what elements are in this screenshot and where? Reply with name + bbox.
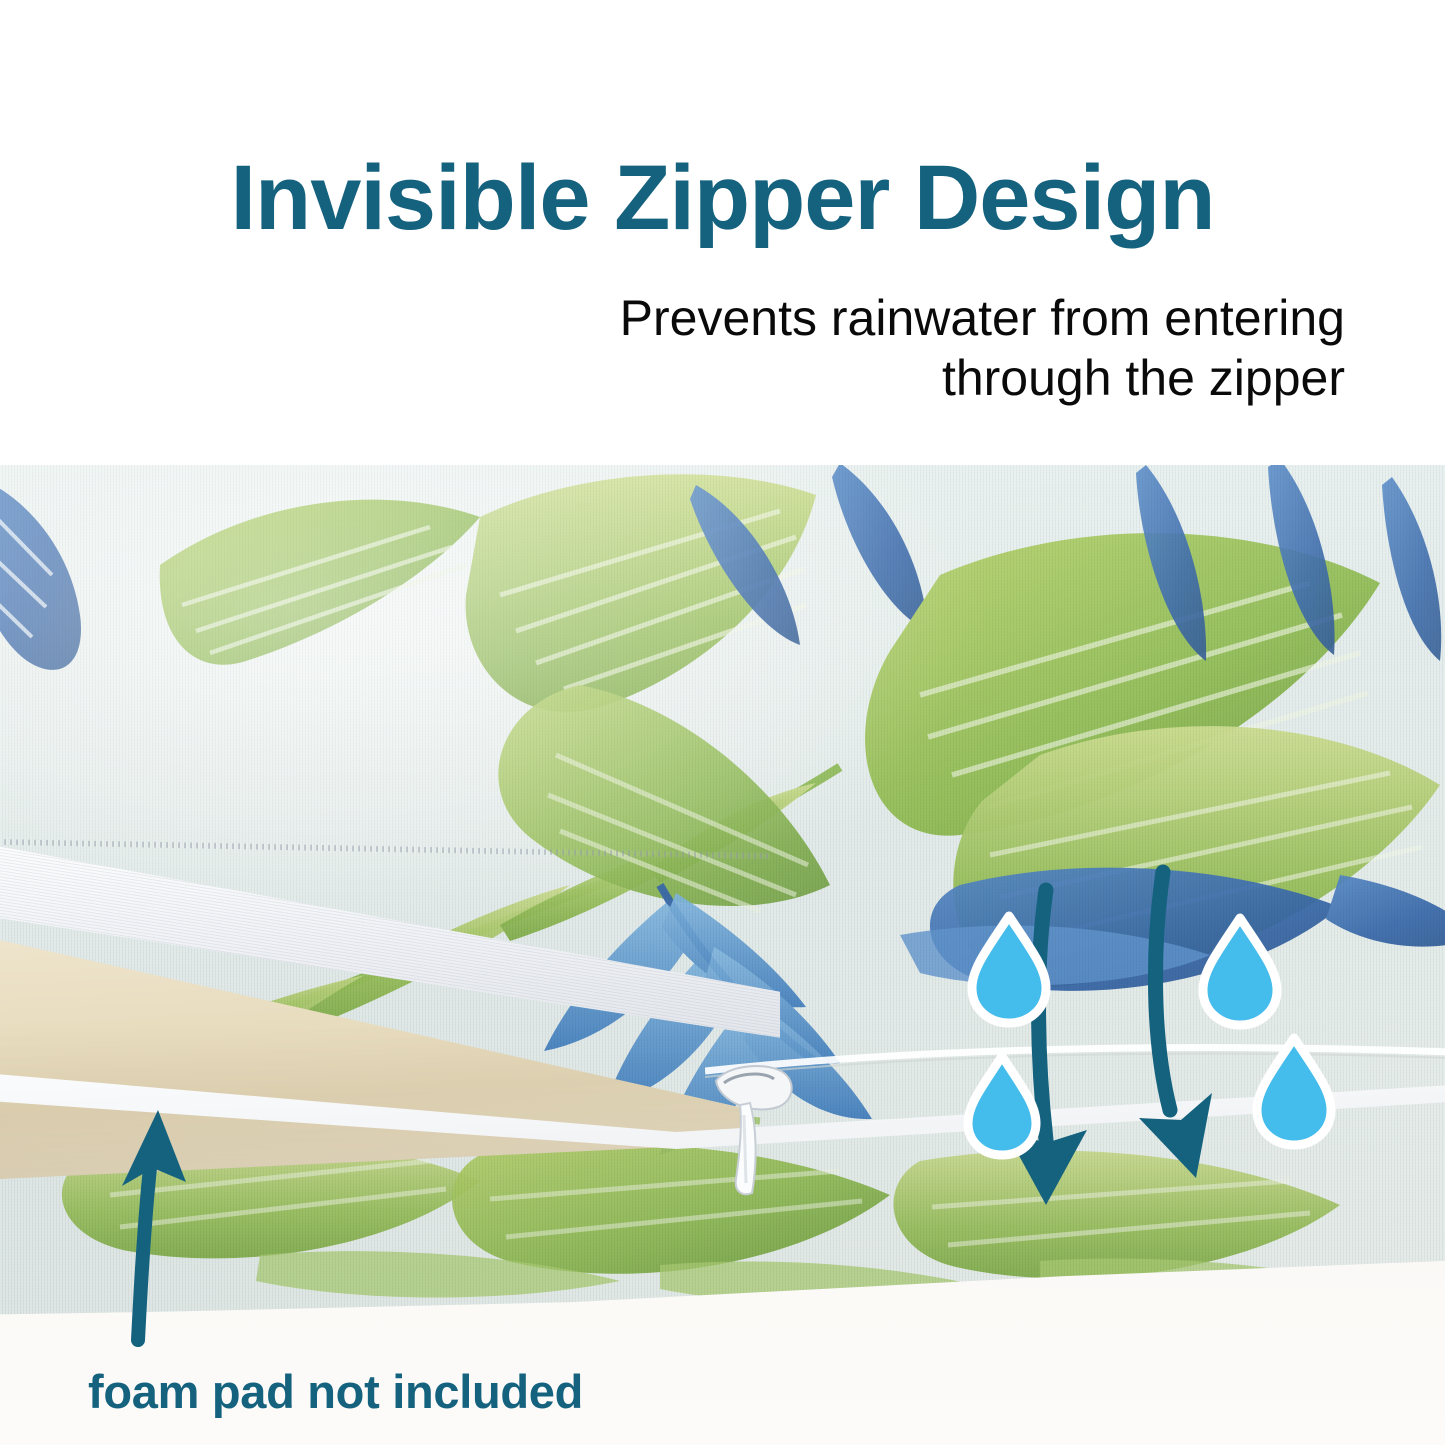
page-subtitle: Prevents rainwater from entering through… [345,288,1345,408]
header-banner: Invisible Zipper Design Prevents rainwat… [0,0,1445,465]
foam-pad-caption: foam pad not included [88,1364,583,1419]
invisible-zipper-seam [705,1025,1445,1105]
product-photo [0,465,1445,1445]
subtitle-line-1: Prevents rainwater from entering [345,288,1345,348]
page-title: Invisible Zipper Design [0,152,1445,244]
zipper-slider [706,1055,816,1205]
subtitle-line-2: through the zipper [345,348,1345,408]
